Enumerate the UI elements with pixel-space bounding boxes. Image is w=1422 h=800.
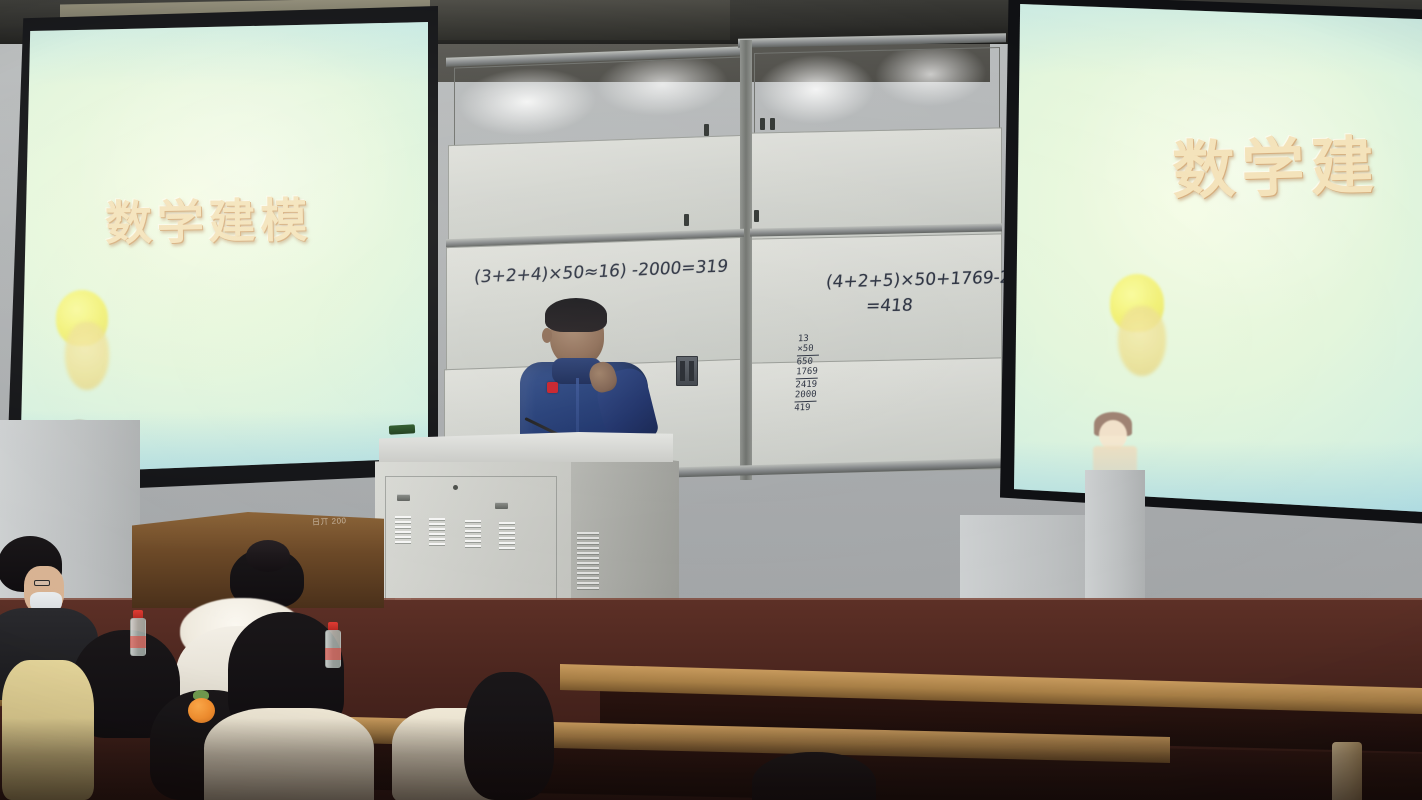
orange-fruit: [188, 698, 215, 723]
audience-1-glasses-icon: [34, 580, 50, 586]
audience-3-coat: [2, 660, 94, 800]
water-bottle-right: [325, 622, 341, 668]
whiteboard-vertical-calculation: 13 ×50 650 1769 2419 2000 419: [794, 334, 820, 414]
slide-title-right: 数学建: [1171, 115, 1381, 211]
podium-indicator-led: [453, 485, 458, 490]
projection-screen-right: [1014, 4, 1422, 512]
podium-handle-right[interactable]: [495, 502, 508, 509]
lecture-hall-photo: (3+2+4)×50≈16) -2000=319 (4+2+5)×50+1769…: [0, 0, 1422, 800]
audience-6-hair: [464, 672, 554, 800]
vcalc-line-5: 2000: [795, 390, 817, 401]
lightbulb-base-icon: [65, 322, 109, 390]
board-clip-3: [770, 118, 775, 130]
bottle-label: [130, 636, 146, 648]
podium-vent-4: [499, 522, 515, 552]
whiteboard-panel-right-lower: [750, 357, 1002, 474]
audience-member-7: [752, 752, 882, 800]
bottle-label-2: [325, 648, 341, 660]
water-bottle-left: [130, 610, 146, 656]
board-mullion-center: [740, 40, 752, 480]
presenter-ear: [542, 328, 552, 343]
presenter-hair: [545, 298, 607, 332]
podium-vent-3: [465, 520, 481, 550]
vcalc-line-3: 1769: [796, 367, 818, 378]
board-rail-top-right: [738, 33, 1006, 48]
audience-2-bun: [246, 540, 290, 572]
board-clip-2: [760, 118, 765, 130]
audience-5-coat: [204, 708, 374, 800]
vcalc-line-1: ×50: [797, 344, 819, 355]
board-clip-4: [684, 214, 689, 226]
audience-7-hair: [752, 752, 876, 800]
green-device-icon: [389, 424, 415, 434]
podium-side-vent-upper: [577, 532, 599, 592]
whiteboard-equation-right-line2: =418: [865, 296, 914, 317]
wooden-post: [1332, 742, 1362, 800]
lightbulb-base-icon-right: [1118, 306, 1166, 376]
audience-member-6: [392, 672, 592, 800]
podium-vent-1: [395, 516, 411, 546]
podium-top-surface: [379, 432, 673, 462]
podium-handle-left[interactable]: [397, 494, 410, 501]
counter-label-text: 日丌 200: [312, 515, 347, 528]
board-clip-5: [754, 210, 759, 222]
audience-member-5: [210, 612, 390, 800]
glass-panel-right: [754, 47, 1000, 137]
vcalc-line-6: 419: [794, 403, 816, 414]
presenter-badge: [547, 382, 558, 393]
wall-box-slot-b: [689, 361, 694, 381]
board-clip-1: [704, 124, 709, 136]
slide-title-left: 数学建模: [104, 181, 312, 254]
podium-vent-2: [429, 518, 445, 548]
